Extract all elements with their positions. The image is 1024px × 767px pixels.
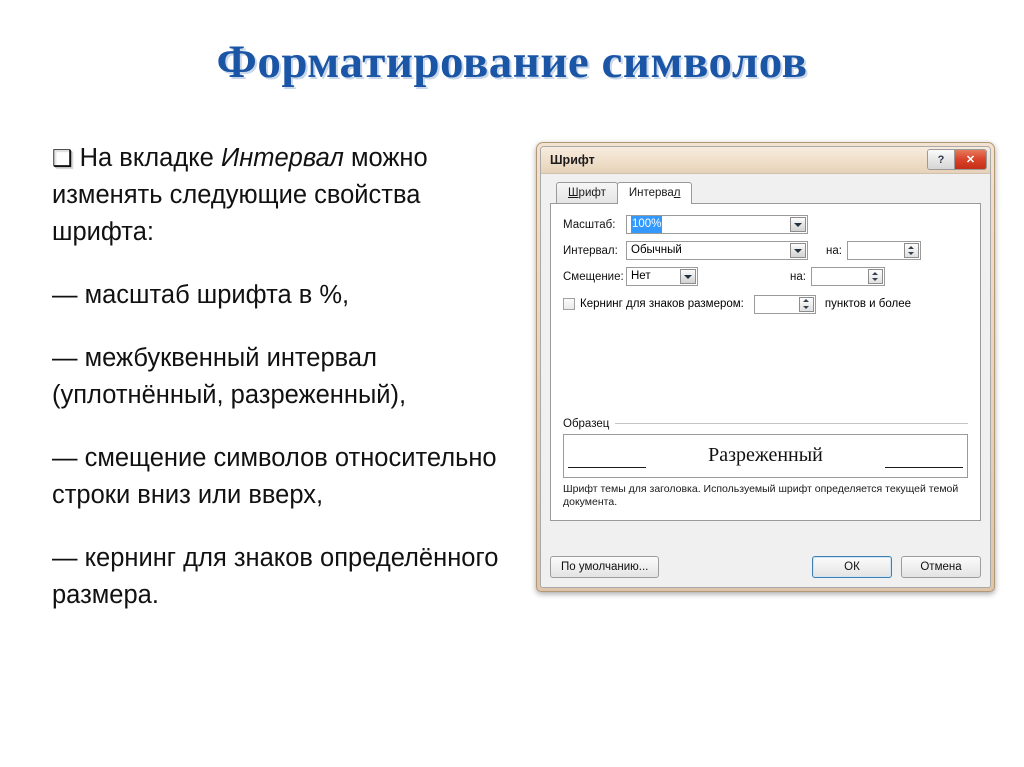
list-item-emphasis: Интервал — [221, 144, 344, 172]
spinner-down-glyph — [908, 252, 914, 255]
bullet-list: ❑На вкладке Интервал можно изменять след… — [52, 140, 502, 614]
offset-combobox[interactable]: Нет — [626, 267, 698, 286]
sample-legend-row: Образец — [563, 417, 968, 430]
tab-font[interactable]: Шрифт — [556, 182, 618, 203]
sample-preview-box: Разреженный — [563, 434, 968, 478]
tab-spacing-label: Интерва — [629, 187, 674, 199]
scale-combobox[interactable]: 100% — [626, 215, 808, 234]
sample-note: Шрифт темы для заголовка. Используемый ш… — [563, 483, 968, 509]
list-item-text: смещение символов относительно строки вн… — [52, 444, 497, 509]
spacing-combobox[interactable]: Обычный — [626, 241, 808, 260]
dialog-footer: По умолчанию... ОК Отмена — [550, 555, 981, 579]
chevron-down-icon[interactable] — [790, 217, 806, 232]
tab-spacing-mnemonic: л — [674, 187, 681, 199]
list-item: — смещение символов относительно строки … — [52, 440, 502, 514]
list-item: — межбуквенный интервал (уплотнённый, ра… — [52, 340, 502, 414]
spinner-up-glyph — [908, 246, 914, 249]
ok-button[interactable]: ОК — [812, 556, 892, 578]
spacing-by-label: на: — [826, 245, 842, 257]
offset-value: Нет — [631, 268, 651, 285]
spinner-down-icon[interactable] — [800, 304, 813, 311]
list-item-text: межбуквенный интервал (уплотнённый, разр… — [52, 344, 406, 409]
group-divider — [615, 423, 968, 424]
spinner-down-glyph — [803, 306, 809, 309]
sample-rule-right — [885, 467, 963, 468]
tab-page-spacing: Масштаб: 100% Интервал: Обычный на: — [550, 203, 981, 521]
offset-label: Смещение: — [563, 271, 626, 283]
spinner-buttons — [799, 297, 814, 312]
kerning-label: Кернинг для знаков размером: — [580, 298, 744, 310]
close-icon[interactable]: ✕ — [955, 150, 986, 169]
titlebar-button-group: ? ✕ — [927, 149, 987, 170]
offset-row: Смещение: Нет на: — [563, 266, 968, 287]
square-bullet-icon: ❑ — [52, 145, 73, 171]
tab-strip: ШрифтИнтервал — [550, 182, 981, 203]
sample-legend: Образец — [563, 418, 615, 430]
sample-group: Образец Разреженный Шрифт темы для загол… — [563, 417, 968, 509]
spacing-value: Обычный — [631, 242, 682, 259]
spinner-down-glyph — [872, 278, 878, 281]
spinner-down-icon[interactable] — [905, 251, 918, 258]
scale-value: 100% — [631, 216, 662, 233]
kerning-checkbox[interactable] — [563, 298, 575, 310]
dialog-inner-frame: Шрифт ? ✕ ШрифтИнтервал Масштаб: 100% — [540, 146, 991, 588]
page-title: Форматирование символов — [0, 34, 1024, 90]
list-item: ❑На вкладке Интервал можно изменять след… — [52, 140, 502, 251]
chevron-down-glyph — [684, 275, 692, 279]
sample-preview-text: Разреженный — [564, 444, 967, 467]
tab-font-label: рифт — [579, 187, 606, 199]
dash-bullet-icon: — — [52, 281, 78, 309]
list-item: — масштаб шрифта в %, — [52, 277, 502, 314]
kerning-row: Кернинг для знаков размером: пунктов и б… — [563, 294, 968, 314]
kerning-size-spinner[interactable] — [754, 295, 816, 314]
list-item-text: масштаб шрифта в %, — [78, 281, 350, 309]
spinner-up-glyph — [803, 299, 809, 302]
offset-by-spinner[interactable] — [811, 267, 885, 286]
tab-spacing[interactable]: Интервал — [617, 182, 693, 204]
spinner-down-icon[interactable] — [869, 277, 882, 284]
spinner-buttons — [904, 243, 919, 258]
font-dialog-window[interactable]: Шрифт ? ✕ ШрифтИнтервал Масштаб: 100% — [536, 142, 995, 592]
help-icon[interactable]: ? — [928, 150, 955, 169]
dash-bullet-icon: — — [52, 544, 78, 572]
set-default-button[interactable]: По умолчанию... — [550, 556, 659, 578]
chevron-down-icon[interactable] — [680, 269, 696, 284]
spinner-buttons — [868, 269, 883, 284]
dialog-title: Шрифт — [550, 153, 595, 167]
spacing-row: Интервал: Обычный на: — [563, 240, 968, 261]
cancel-button[interactable]: Отмена — [901, 556, 981, 578]
scale-label: Масштаб: — [563, 219, 626, 231]
list-item-text: кернинг для знаков определённого размера… — [52, 544, 498, 609]
spinner-up-glyph — [872, 272, 878, 275]
list-item: — кернинг для знаков определённого разме… — [52, 540, 502, 614]
dash-bullet-icon: — — [52, 344, 78, 372]
kerning-suffix-label: пунктов и более — [825, 298, 911, 310]
dialog-titlebar[interactable]: Шрифт ? ✕ — [541, 147, 990, 174]
spacing-by-spinner[interactable] — [847, 241, 921, 260]
scale-row: Масштаб: 100% — [563, 214, 968, 235]
chevron-down-icon[interactable] — [790, 243, 806, 258]
chevron-down-glyph — [794, 249, 802, 253]
spacing-label: Интервал: — [563, 245, 626, 257]
offset-by-label: на: — [790, 271, 806, 283]
tab-font-mnemonic: Ш — [568, 187, 579, 199]
chevron-down-glyph — [794, 223, 802, 227]
sample-rule-left — [568, 467, 646, 468]
list-item-text-prefix: На вкладке — [80, 144, 221, 172]
dialog-body: ШрифтИнтервал Масштаб: 100% Интервал: Об… — [541, 174, 990, 587]
dash-bullet-icon: — — [52, 444, 78, 472]
